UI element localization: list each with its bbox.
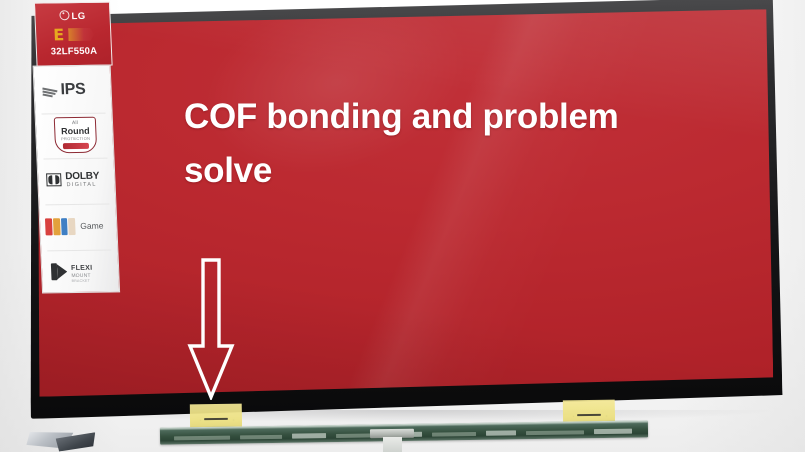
- feature-badge-flexi-mount: FLEXI MOUNT BRACKET: [41, 249, 119, 295]
- lg-brand-line: LG: [35, 10, 110, 23]
- feature-badge-all-round-protection: All Round PROTECTION: [36, 112, 114, 158]
- feature-label-protection: PROTECTION: [56, 136, 96, 142]
- tape-dash-mark: [204, 418, 228, 421]
- game-tiles-icon: [45, 218, 76, 235]
- pcb-trace: [174, 436, 230, 441]
- feature-label-ips: IPS: [60, 81, 86, 99]
- metal-tool-part: [26, 426, 100, 452]
- lg-brand-label: LG: [71, 11, 85, 22]
- feature-label-game: Game: [80, 221, 104, 231]
- caption-overlay: COF bonding and problem solve: [184, 90, 664, 198]
- pcb-chip: [292, 433, 326, 439]
- feature-label-flexi: FLEXI: [71, 265, 93, 272]
- energy-arrow-icon: [68, 28, 95, 41]
- feature-badge-game: Game: [39, 203, 117, 249]
- screen-reflection-a: [34, 9, 773, 397]
- down-arrow-icon: [186, 258, 236, 400]
- retail-sticker-strip: LG E 32LF550A IPS All Round PROTECTION: [30, 2, 124, 293]
- tape-dash-mark: [577, 414, 601, 417]
- dolby-double-d-icon: [46, 173, 62, 186]
- screenshot-stage: LG E 32LF550A IPS All Round PROTECTION: [0, 0, 805, 452]
- pcb-trace: [432, 432, 476, 437]
- pcb-ribbon-tail: [383, 437, 402, 452]
- pcb-trace: [526, 430, 584, 435]
- pcb-trace: [240, 435, 282, 440]
- feature-label-round: Round: [55, 126, 95, 137]
- caption-line-1: COF bonding and problem: [184, 90, 664, 144]
- feature-badge-ips: IPS: [34, 70, 112, 116]
- energy-rating-badge: E: [53, 25, 96, 46]
- tv-screen: [34, 9, 773, 397]
- feature-badge-dolby-digital: DOLBY DIGITAL: [37, 157, 115, 203]
- tv-panel: [25, 0, 782, 419]
- shield-icon: All Round PROTECTION: [54, 117, 98, 154]
- ips-lines-icon: [42, 86, 58, 97]
- pcb-chip: [486, 430, 516, 435]
- lg-logo-icon: [59, 10, 69, 20]
- caption-line-2: solve: [184, 144, 664, 198]
- energy-rating-letter: E: [53, 25, 65, 44]
- sticker-model-card: LG E 32LF550A: [34, 2, 113, 67]
- shield-ribbon: [63, 143, 89, 149]
- sticker-feature-list: IPS All Round PROTECTION DOLBY DIGITAL: [33, 65, 121, 294]
- feature-label-dolby: DOLBY: [65, 171, 99, 182]
- flexi-mount-icon: [51, 263, 68, 280]
- tv-model-number: 32LF550A: [37, 46, 111, 58]
- feature-sublabel-digital: DIGITAL: [66, 182, 96, 188]
- pcb-chip: [594, 429, 632, 435]
- screen-reflection-b: [34, 9, 773, 397]
- feature-sublabel-bracket: BRACKET: [72, 279, 91, 283]
